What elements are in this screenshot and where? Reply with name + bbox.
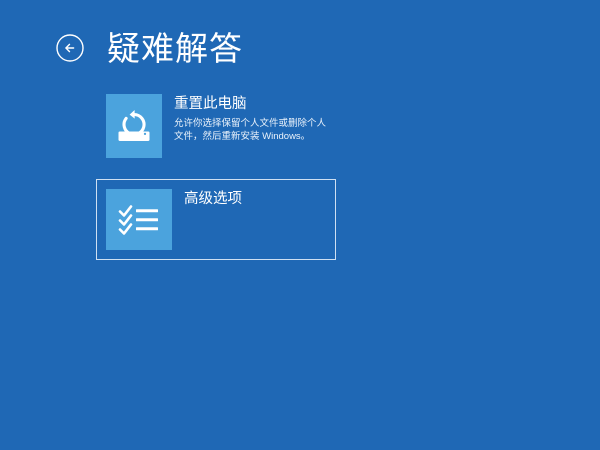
recovery-screen: 疑难解答 重置此电脑 允许你选择保留个人文件或删除个人文件，然后重新安装 Win… (0, 0, 600, 450)
screen-header: 疑难解答 (55, 24, 243, 72)
back-arrow-circle-icon[interactable] (55, 33, 85, 63)
options-spacer (96, 168, 336, 179)
checklist-icon (106, 189, 172, 250)
page-title: 疑难解答 (107, 32, 243, 65)
option-advanced-options[interactable]: 高级选项 (96, 179, 336, 260)
option-title: 高级选项 (184, 190, 242, 208)
option-reset-this-pc[interactable]: 重置此电脑 允许你选择保留个人文件或删除个人文件，然后重新安装 Windows。 (96, 84, 336, 168)
option-text-block: 重置此电脑 允许你选择保留个人文件或删除个人文件，然后重新安装 Windows。 (162, 94, 326, 143)
option-text-block: 高级选项 (172, 189, 242, 212)
options-list: 重置此电脑 允许你选择保留个人文件或删除个人文件，然后重新安装 Windows。 (96, 84, 336, 260)
option-description: 允许你选择保留个人文件或删除个人文件，然后重新安装 Windows。 (174, 117, 326, 143)
option-title: 重置此电脑 (174, 95, 326, 113)
reset-pc-icon (106, 94, 162, 158)
